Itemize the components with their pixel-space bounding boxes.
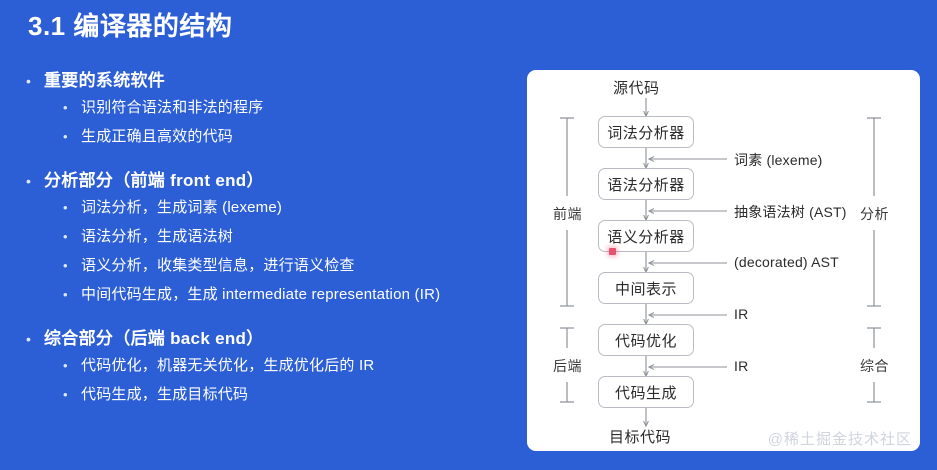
- bullet-marker-icon: •: [63, 259, 81, 272]
- bullet-text: 生成正确且高效的代码: [81, 125, 233, 146]
- bullet-marker-icon: •: [63, 230, 81, 243]
- diagram-edge-label-ir-1: IR: [734, 306, 748, 322]
- bullet-item-l2: •中间代码生成，生成 intermediate representation (…: [63, 283, 506, 312]
- diagram-node-code-optimizer[interactable]: 代码优化: [598, 324, 694, 356]
- bullet-marker-icon: •: [63, 201, 81, 214]
- compiler-structure-diagram: 源代码 目标代码 词法分析器 语法分析器 语义分析器 中间表示 代码优化 代码生…: [527, 70, 920, 451]
- bullet-item-l2: •生成正确且高效的代码: [63, 125, 506, 154]
- bullet-text: 代码生成，生成目标代码: [81, 383, 248, 404]
- diagram-bracket-analysis: 分析: [860, 204, 889, 224]
- diagram-node-lexer[interactable]: 词法分析器: [598, 116, 694, 148]
- bullet-text: 词法分析，生成词素 (lexeme): [81, 196, 282, 217]
- bullet-text: 代码优化，机器无关优化，生成优化后的 IR: [81, 354, 374, 375]
- bullet-item-l1: •综合部分（后端 back end）: [26, 324, 506, 354]
- bullet-text: 语法分析，生成语法树: [81, 225, 233, 246]
- bullet-text: 分析部分（前端 front end）: [44, 166, 264, 191]
- bullet-marker-icon: •: [63, 288, 81, 301]
- bullet-list: •重要的系统软件•识别符合语法和非法的程序•生成正确且高效的代码•分析部分（前端…: [26, 66, 506, 412]
- bullet-item-l2: •语义分析，收集类型信息，进行语义检查: [63, 254, 506, 283]
- bullet-item-l1: •重要的系统软件: [26, 66, 506, 96]
- bullet-marker-icon: •: [63, 388, 81, 401]
- diagram-node-code-generator[interactable]: 代码生成: [598, 376, 694, 408]
- bullet-marker-icon: •: [26, 74, 44, 88]
- diagram-bracket-front-end: 前端: [553, 204, 582, 224]
- diagram-edge-label-decorated-ast: (decorated) AST: [734, 254, 839, 270]
- bullet-text: 重要的系统软件: [44, 66, 165, 91]
- bullet-marker-icon: •: [63, 359, 81, 372]
- diagram-bracket-synthesis: 综合: [860, 356, 889, 376]
- bullet-text: 综合部分（后端 back end）: [44, 324, 264, 349]
- bullet-text: 语义分析，收集类型信息，进行语义检查: [81, 254, 355, 275]
- diagram-node-parser[interactable]: 语法分析器: [598, 168, 694, 200]
- page-title: 3.1 编译器的结构: [28, 6, 232, 43]
- bullet-text: 中间代码生成，生成 intermediate representation (I…: [81, 283, 440, 304]
- diagram-output-label: 目标代码: [609, 426, 671, 447]
- bullet-marker-icon: •: [63, 101, 81, 114]
- diagram-bracket-back-end: 后端: [553, 356, 582, 376]
- diagram-node-intermediate-representation[interactable]: 中间表示: [598, 272, 694, 304]
- bullet-item-l2: •语法分析，生成语法树: [63, 225, 506, 254]
- bullet-text: 识别符合语法和非法的程序: [81, 96, 263, 117]
- slide-root: 3.1 编译器的结构 •重要的系统软件•识别符合语法和非法的程序•生成正确且高效…: [0, 0, 937, 470]
- bullet-item-l2: •词法分析，生成词素 (lexeme): [63, 196, 506, 225]
- diagram-edge-label-ast: 抽象语法树 (AST): [734, 202, 847, 222]
- cursor-dot-marker: [609, 248, 616, 255]
- bullet-item-l2: •代码优化，机器无关优化，生成优化后的 IR: [63, 354, 506, 383]
- bullet-item-l1: •分析部分（前端 front end）: [26, 166, 506, 196]
- bullet-marker-icon: •: [26, 174, 44, 188]
- bullet-marker-icon: •: [63, 130, 81, 143]
- bullet-marker-icon: •: [26, 332, 44, 346]
- watermark-label: @稀土掘金技术社区: [768, 428, 912, 449]
- bullet-item-l2: •识别符合语法和非法的程序: [63, 96, 506, 125]
- diagram-connectors: [527, 70, 920, 451]
- diagram-edge-label-ir-2: IR: [734, 358, 748, 374]
- diagram-input-label: 源代码: [613, 77, 660, 98]
- bullet-item-l2: •代码生成，生成目标代码: [63, 383, 506, 412]
- diagram-edge-label-lexeme: 词素 (lexeme): [734, 150, 823, 170]
